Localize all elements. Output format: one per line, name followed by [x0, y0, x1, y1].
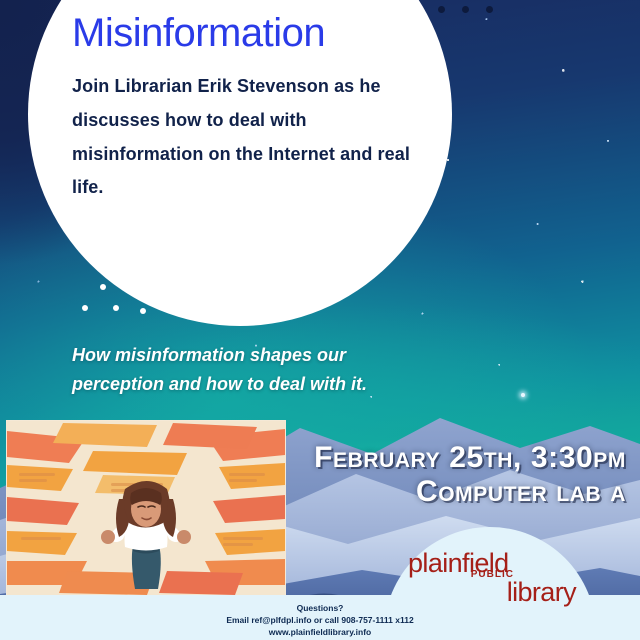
dot-icon — [100, 284, 106, 290]
dot-icon — [462, 6, 469, 13]
dot-icon — [486, 6, 493, 13]
tagline-text: How misinformation shapes our perception… — [72, 341, 432, 399]
event-location: Computer Lab A — [266, 475, 626, 509]
plainfield-public-library-logo: plainfield PUBLIC library — [408, 551, 576, 606]
dot-icon — [140, 308, 146, 314]
footer-website: www.plainfieldlibrary.info — [0, 626, 640, 638]
event-details: February 25th, 3:30pm Computer Lab A — [266, 441, 626, 508]
footer-email-phone: Email ref@plfdpl.info or call 908-757-11… — [0, 614, 640, 626]
headline-block: Misinformation Join Librarian Erik Steve… — [72, 12, 442, 205]
footer-contact-info: Questions? Email ref@plfdpl.info or call… — [0, 602, 640, 638]
logo-kicker-public: PUBLIC — [471, 570, 514, 580]
poster-canvas: Misinformation Join Librarian Erik Steve… — [0, 0, 640, 640]
misinformation-illustration — [6, 420, 286, 596]
page-title: Misinformation — [72, 12, 442, 54]
dot-icon — [113, 305, 119, 311]
dot-icon — [82, 305, 88, 311]
description-text: Join Librarian Erik Stevenson as he disc… — [72, 70, 424, 205]
footer-questions-label: Questions? — [0, 602, 640, 614]
event-datetime: February 25th, 3:30pm — [266, 441, 626, 475]
